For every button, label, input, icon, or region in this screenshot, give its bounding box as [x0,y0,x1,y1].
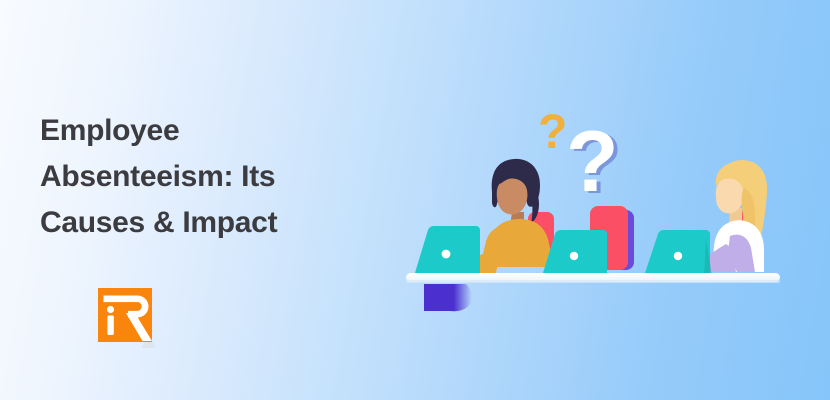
page-title: Employee Absenteeism: Its Causes & Impac… [40,108,400,246]
ir-logo-icon [98,288,160,350]
question-mark-large-white-icon: ? ? [566,114,623,212]
laptop [408,226,488,281]
hero-banner: Employee Absenteeism: Its Causes & Impac… [0,0,830,400]
desk [406,273,780,283]
svg-text:?: ? [566,114,619,210]
bag-under-desk [424,284,472,311]
svg-text:?: ? [538,106,567,159]
headline-block: Employee Absenteeism: Its Causes & Impac… [40,108,400,246]
illustration-office-scene: ? ? ? [400,88,810,313]
question-mark-small-orange-icon: ? [538,106,567,159]
brand-logo[interactable] [98,288,160,350]
